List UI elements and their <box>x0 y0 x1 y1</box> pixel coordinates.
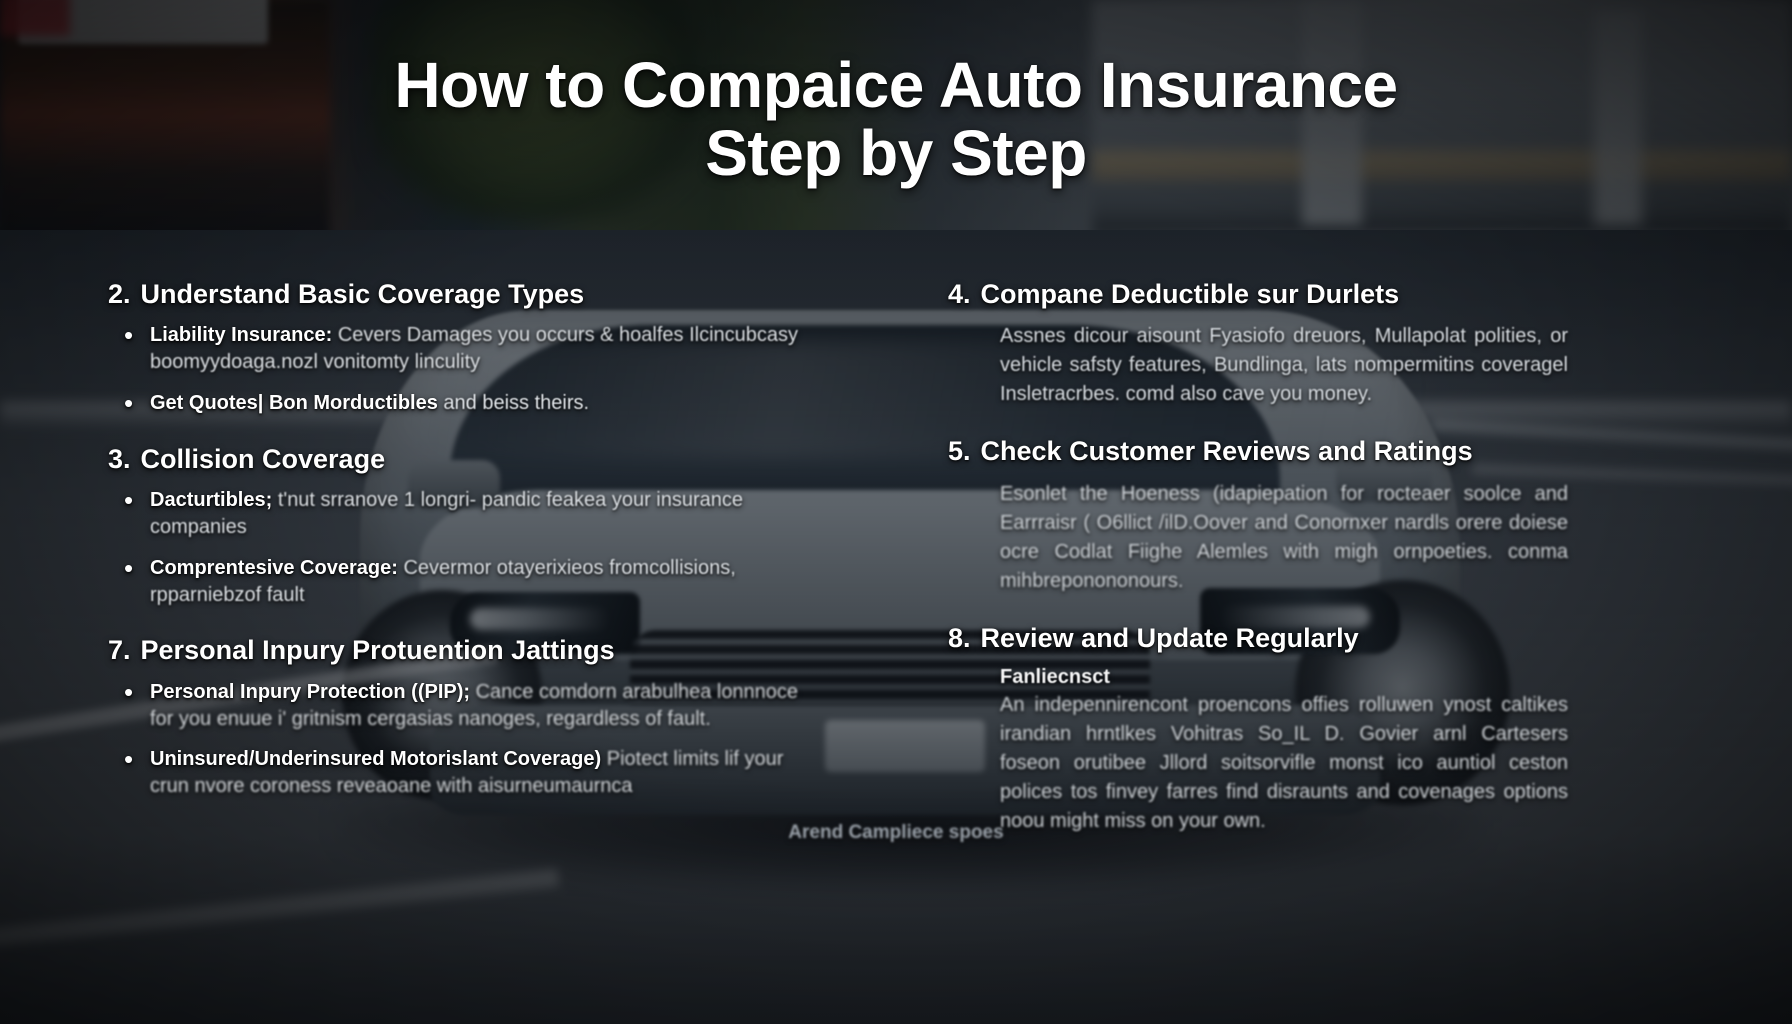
section-number: 7. <box>108 634 131 666</box>
section-heading: 4.Compane Deductible sur Durlets <box>948 278 1568 310</box>
section-title: Check Customer Reviews and Ratings <box>981 436 1473 466</box>
section-number: 3. <box>108 443 131 475</box>
section-paragraph: Assnes dicour aisount Fyasiofo dreuors, … <box>948 322 1568 409</box>
section-heading: 7.Personal Inpury Protuention Jattings <box>108 634 808 666</box>
section-heading: 5.Check Customer Reviews and Ratings <box>948 435 1568 467</box>
bullet-lead: Dacturtibles; <box>150 489 272 511</box>
poster-content: How to Compaice Auto Insurance Step by S… <box>0 0 1792 1024</box>
section-compare-deductibles-and-discounts: 4.Compane Deductible sur Durlets Assnes … <box>948 278 1568 409</box>
section-personal-injury-protection: 7.Personal Inpury Protuention Jattings P… <box>108 634 808 800</box>
bullet-lead: Comprentesive Coverage: <box>150 557 398 579</box>
footer-caption: Arend Campliece spoes <box>0 822 1792 844</box>
section-heading: 2.Understand Basic Coverage Types <box>108 278 808 310</box>
list-item: Dacturtibles; t'nut srranove 1 longri- p… <box>108 487 808 541</box>
section-paragraph: Esonlet the Hoeness (idapiepation for ro… <box>948 480 1568 596</box>
page-title: How to Compaice Auto Insurance Step by S… <box>0 52 1792 188</box>
list-item: Get Quotes| Bon Morductibles and beiss t… <box>108 390 808 417</box>
right-column: 4.Compane Deductible sur Durlets Assnes … <box>948 278 1568 862</box>
section-title: Compane Deductible sur Durlets <box>981 279 1400 309</box>
bullet-lead: Personal Inpury Protection ((PIP); <box>150 681 470 703</box>
section-paragraph: An indepennirencont proencons offies rol… <box>948 691 1568 836</box>
section-number: 4. <box>948 278 971 310</box>
title-line-1: How to Compaice Auto Insurance <box>120 52 1672 120</box>
bullet-list: Personal Inpury Protection ((PIP); Cance… <box>108 679 808 800</box>
section-heading: 8.Review and Update Regularly <box>948 622 1568 654</box>
list-item: Comprentesive Coverage: Cevermor otayeri… <box>108 555 808 609</box>
bullet-lead: Get Quotes| Bon Morductibles <box>150 392 438 414</box>
bullet-list: Liability Insurance: Cevers Damages you … <box>108 322 808 416</box>
section-title: Collision Coverage <box>141 444 386 474</box>
section-number: 8. <box>948 622 971 654</box>
section-title: Personal Inpury Protuention Jattings <box>141 635 615 665</box>
section-heading: 3.Collision Coverage <box>108 443 808 475</box>
section-understand-basic-coverage-types: 2.Understand Basic Coverage Types Liabil… <box>108 278 808 417</box>
bullet-text: and beiss theirs. <box>443 392 589 414</box>
infographic-poster: How to Compaice Auto Insurance Step by S… <box>0 0 1792 1024</box>
left-column: 2.Understand Basic Coverage Types Liabil… <box>108 278 808 826</box>
section-collision-coverage: 3.Collision Coverage Dacturtibles; t'nut… <box>108 443 808 609</box>
title-line-2: Step by Step <box>120 120 1672 188</box>
section-title: Review and Update Regularly <box>981 623 1359 653</box>
section-review-and-update-regularly: 8.Review and Update Regularly Fanliecnsc… <box>948 622 1568 836</box>
bullet-list: Dacturtibles; t'nut srranove 1 longri- p… <box>108 487 808 608</box>
list-item: Personal Inpury Protection ((PIP); Cance… <box>108 679 808 733</box>
section-title: Understand Basic Coverage Types <box>141 279 585 309</box>
bullet-lead: Liability Insurance: <box>150 324 332 346</box>
section-number: 5. <box>948 435 971 467</box>
list-item: Liability Insurance: Cevers Damages you … <box>108 322 808 376</box>
section-check-customer-reviews-and-ratings: 5.Check Customer Reviews and Ratings Eso… <box>948 435 1568 595</box>
section-sub-label: Fanliecnsct <box>948 666 1568 689</box>
list-item: Uninsured/Underinsured Motorislant Cover… <box>108 746 808 800</box>
bullet-lead: Uninsured/Underinsured Motorislant Cover… <box>150 748 601 770</box>
section-number: 2. <box>108 278 131 310</box>
